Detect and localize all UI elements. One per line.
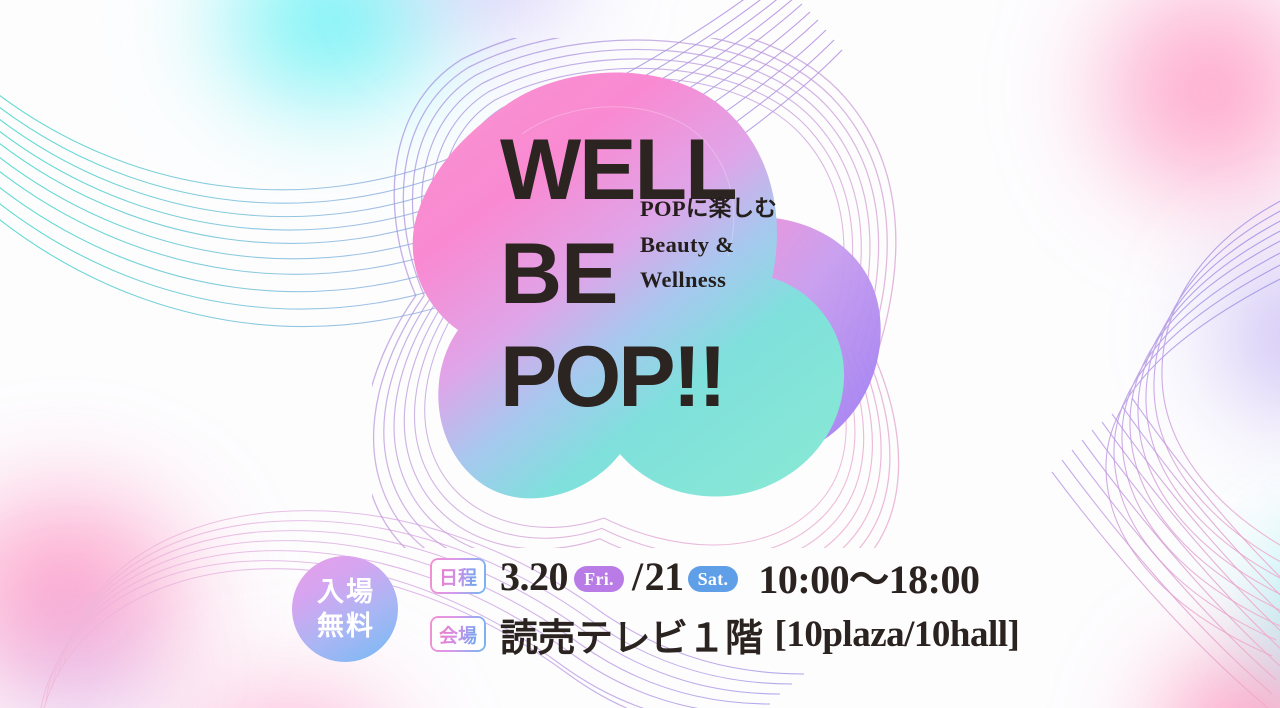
date-tag-box: 日程 bbox=[430, 558, 486, 594]
date-tag-label: 日程 bbox=[439, 563, 477, 590]
wordmark-line-3: POP!! bbox=[500, 337, 736, 419]
date-month-day: 3.20 bbox=[500, 553, 568, 600]
venue-value: 読売テレビ１階 [10plaza/10hall] bbox=[500, 607, 1019, 662]
day-pill-friday: Fri. bbox=[574, 566, 624, 592]
blob-pink-top-right bbox=[1000, 0, 1280, 300]
venue-tag-box: 会場 bbox=[430, 616, 486, 652]
date-value: 3.20 Fri. / 21 Sat. 10:00〜18:00 bbox=[500, 547, 979, 605]
blob-violet-top-right bbox=[1135, 170, 1280, 500]
tagline-line-3: Wellness bbox=[640, 262, 777, 298]
venue-name-jp: 読売テレビ１階 bbox=[500, 607, 763, 662]
poster-root: WELL BE POP!! POPに楽しむ Beauty & Wellness … bbox=[0, 0, 1280, 708]
tagline-line-1: POPに楽しむ bbox=[640, 191, 777, 227]
day-pill-saturday: Sat. bbox=[688, 566, 739, 592]
event-details: 日程 3.20 Fri. / 21 Sat. 10:00〜18:00 会場 読売… bbox=[430, 548, 1019, 662]
date-second-day: 21 bbox=[645, 553, 684, 600]
event-tagline: POPに楽しむ Beauty & Wellness bbox=[640, 191, 777, 298]
date-row: 日程 3.20 Fri. / 21 Sat. 10:00〜18:00 bbox=[430, 548, 1019, 604]
free-badge-line-1: 入場 bbox=[315, 575, 375, 609]
date-separator: / bbox=[632, 553, 643, 600]
logo-blob-group: WELL BE POP!! POPに楽しむ Beauty & Wellness bbox=[372, 38, 932, 548]
venue-name-en: [10plaza/10hall] bbox=[775, 613, 1020, 656]
tagline-line-2: Beauty & bbox=[640, 227, 777, 263]
free-badge-line-2: 無料 bbox=[315, 609, 375, 643]
venue-tag-label: 会場 bbox=[439, 621, 477, 648]
event-info-bar: 入場 無料 日程 3.20 Fri. / 21 Sat. 10:00〜18:00 bbox=[0, 536, 1280, 676]
event-time: 10:00〜18:00 bbox=[758, 547, 979, 605]
venue-row: 会場 読売テレビ１階 [10plaza/10hall] bbox=[430, 606, 1019, 662]
free-admission-badge: 入場 無料 bbox=[292, 556, 398, 662]
